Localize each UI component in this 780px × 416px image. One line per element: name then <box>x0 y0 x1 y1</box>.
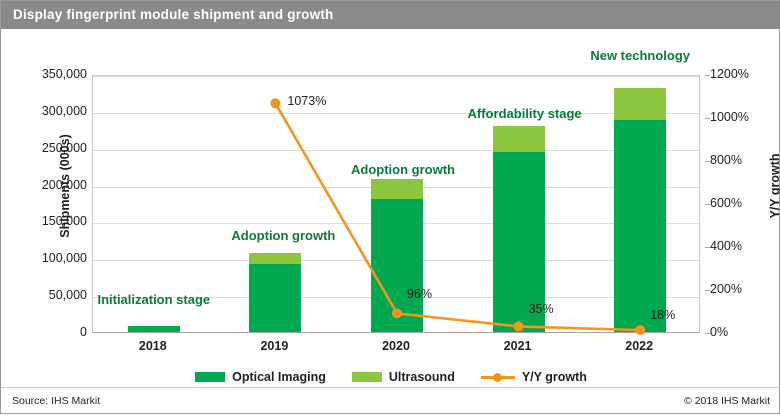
growth-data-point[interactable] <box>635 325 645 335</box>
stage-annotation: Adoption growth <box>351 162 455 177</box>
legend-dot-icon <box>493 373 502 382</box>
legend-swatch-icon <box>352 372 382 382</box>
y-axis-right-tick-label: 0% <box>710 325 728 339</box>
legend-label: Optical Imaging <box>232 370 326 384</box>
tick-mark <box>705 118 710 119</box>
chart-title-bar: Display fingerprint module shipment and … <box>1 1 780 29</box>
legend-label: Y/Y growth <box>522 370 587 384</box>
legend-swatch-icon <box>195 372 225 382</box>
growth-data-point[interactable] <box>270 98 280 108</box>
growth-value-label: 18% <box>650 308 675 322</box>
y-axis-left-tick-label: 200,000 <box>1 178 87 192</box>
growth-data-point[interactable] <box>514 321 524 331</box>
x-axis-tick-label: 2021 <box>468 339 568 353</box>
growth-value-label: 1073% <box>287 94 326 108</box>
source-note: Source: IHS Markit <box>12 395 100 407</box>
y-axis-left-tick-label: 250,000 <box>1 141 87 155</box>
x-axis-tick-label: 2020 <box>346 339 446 353</box>
y-axis-right-tick-label: 1200% <box>710 67 749 81</box>
plot-area: 1073%96%35%18% Initialization stageAdopt… <box>92 75 700 333</box>
y-axis-right-tick-label: 800% <box>710 153 742 167</box>
legend-line-marker-icon <box>481 371 515 383</box>
y-axis-right-tick-label: 200% <box>710 282 742 296</box>
growth-line-path <box>275 103 640 330</box>
legend-item[interactable]: Ultrasound <box>352 370 455 384</box>
tick-mark <box>705 333 710 334</box>
y-axis-right-tick-label: 600% <box>710 196 742 210</box>
y-axis-left-tick-label: 50,000 <box>1 288 87 302</box>
chart-footer: Source: IHS Markit © 2018 IHS Markit <box>1 387 780 416</box>
x-axis-tick-label: 2022 <box>589 339 689 353</box>
chart-body: Shipments (000s) Y/Y growth 050,000100,0… <box>1 29 780 415</box>
y-axis-left-ticks: 050,000100,000150,000200,000250,000300,0… <box>1 75 87 333</box>
stage-annotation: Initialization stage <box>97 292 210 307</box>
tick-mark <box>705 290 710 291</box>
x-axis-tick-label: 2019 <box>224 339 324 353</box>
tick-mark <box>705 75 710 76</box>
y-axis-right-tick-label: 1000% <box>710 110 749 124</box>
y-axis-left-tick-label: 300,000 <box>1 104 87 118</box>
y-axis-left-tick-label: 100,000 <box>1 251 87 265</box>
legend-item[interactable]: Optical Imaging <box>195 370 326 384</box>
growth-value-label: 96% <box>407 287 432 301</box>
y-axis-left-tick-label: 350,000 <box>1 67 87 81</box>
tick-mark <box>705 204 710 205</box>
copyright-note: © 2018 IHS Markit <box>684 395 770 407</box>
legend-item[interactable]: Y/Y growth <box>481 370 587 384</box>
stage-annotation: Adoption growth <box>231 228 335 243</box>
chart-legend: Optical ImagingUltrasoundY/Y growth <box>1 367 780 387</box>
x-axis-ticks: 20182019202020212022 <box>92 339 700 361</box>
y-axis-right-title: Y/Y growth <box>768 126 780 246</box>
stage-annotation: Affordability stage <box>468 106 582 121</box>
page-title: Display fingerprint module shipment and … <box>13 7 333 22</box>
growth-value-label: 35% <box>529 302 554 316</box>
chart-frame: Display fingerprint module shipment and … <box>0 0 780 414</box>
legend-label: Ultrasound <box>389 370 455 384</box>
stage-annotation: New technology <box>590 48 690 63</box>
y-axis-right-ticks: 0%200%400%600%800%1000%1200% <box>704 75 764 333</box>
y-axis-left-tick-label: 150,000 <box>1 214 87 228</box>
x-axis-tick-label: 2018 <box>103 339 203 353</box>
growth-data-point[interactable] <box>392 308 402 318</box>
y-axis-right-tick-label: 400% <box>710 239 742 253</box>
y-axis-left-tick-label: 0 <box>1 325 87 339</box>
tick-mark <box>705 161 710 162</box>
tick-mark <box>705 247 710 248</box>
